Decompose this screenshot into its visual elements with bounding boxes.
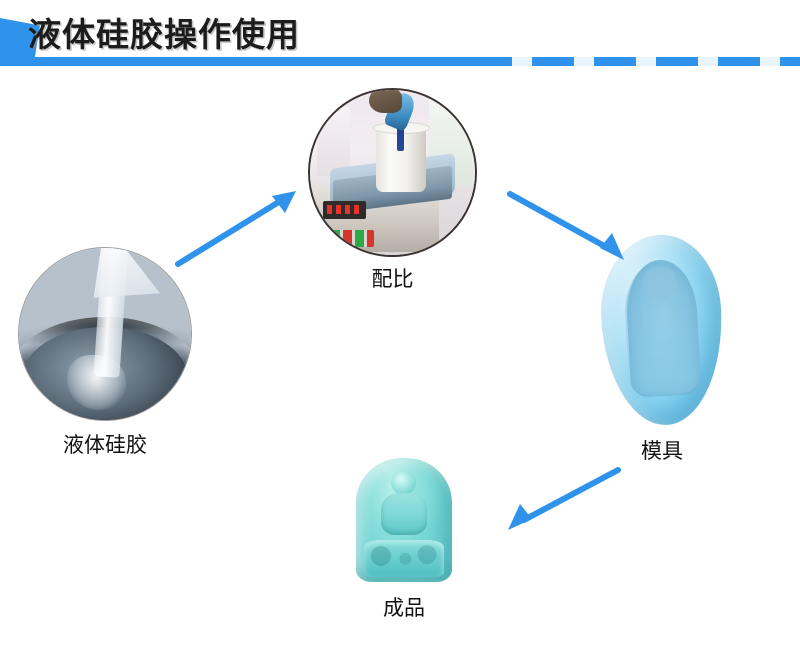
diagram-node-ratio: 配比 bbox=[308, 88, 477, 257]
finished-figurine-photo bbox=[356, 458, 452, 582]
page-header: 液体硅胶操作使用 bbox=[0, 0, 800, 75]
diagram-node-silicone: 液体硅胶 bbox=[18, 247, 192, 421]
header-rule-solid bbox=[0, 57, 470, 66]
diagram-node-product: 成品 bbox=[356, 458, 452, 582]
arrow-mold-to-product-icon bbox=[490, 464, 630, 544]
arrow-silicone-to-ratio-icon bbox=[172, 186, 302, 270]
weighing-scale-photo bbox=[308, 88, 477, 257]
page-root: 液体硅胶操作使用 液体硅胶 配比 bbox=[0, 0, 800, 646]
page-title: 液体硅胶操作使用 bbox=[28, 8, 300, 56]
caption-product: 成品 bbox=[356, 592, 452, 622]
liquid-silicone-photo bbox=[18, 247, 192, 421]
caption-silicone: 液体硅胶 bbox=[18, 429, 192, 459]
caption-mold: 模具 bbox=[602, 435, 722, 465]
caption-ratio: 配比 bbox=[308, 263, 477, 293]
arrow-ratio-to-mold-icon bbox=[500, 182, 640, 268]
header-rule-dashed bbox=[470, 57, 800, 66]
